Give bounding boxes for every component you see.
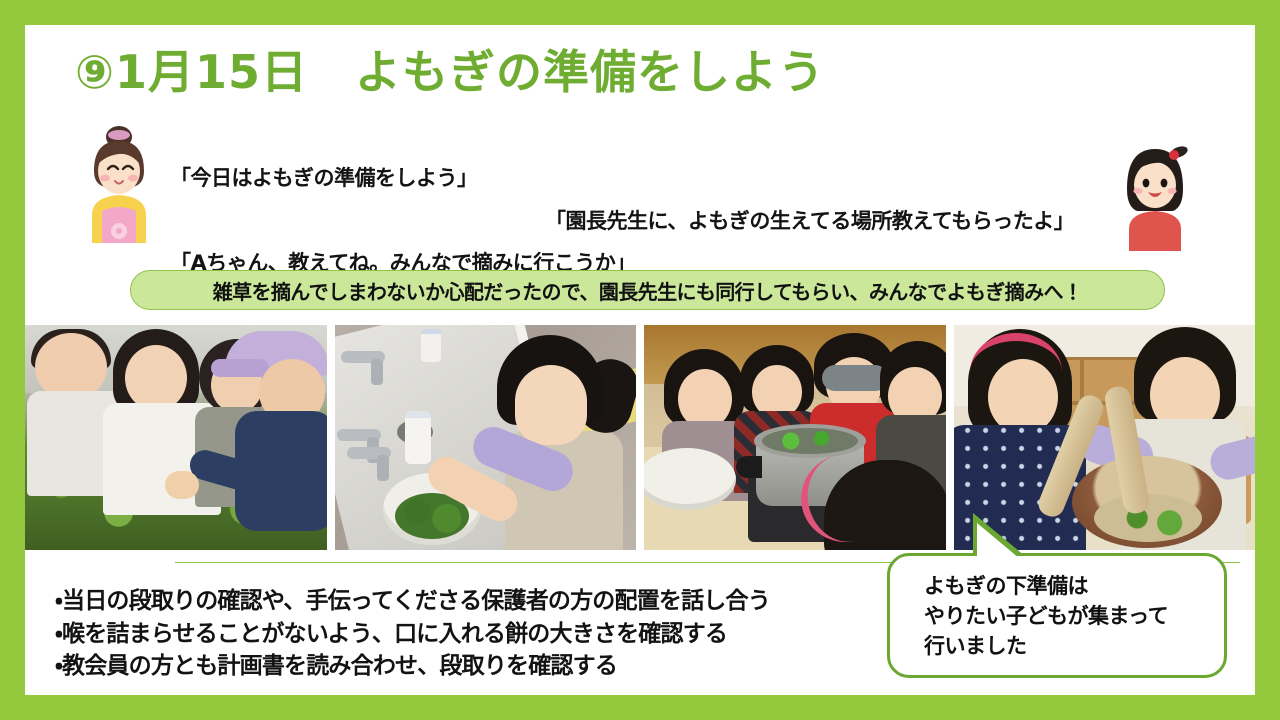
highlight-text: 雑草を摘んでしまわないか心配だったので、園長先生にも同行してもらい、みんなでよも… <box>213 276 1083 305</box>
bullet-item: ・喉を詰まらせることがないよう、口に入れる餅の大きさを確認する <box>55 618 875 651</box>
photo-strip <box>25 325 1255 550</box>
dialogue-line-2: 「園長先生に、よもぎの生えてる場所教えてもらったよ」 <box>545 205 1074 235</box>
bullet-item: ・教会員の方とも計画書を読み合わせ、段取りを確認する <box>55 650 875 683</box>
girl-illustration <box>1115 133 1195 251</box>
callout-tail-inner <box>977 523 1025 563</box>
photo2-child <box>477 335 627 550</box>
callout-text: よもぎの下準備は やりたい子どもが集まって 行いました <box>924 572 1168 661</box>
photo-picking-mugwort <box>25 325 327 550</box>
photo3-boiling-greens <box>762 428 858 454</box>
photo3-pot-handle <box>736 456 762 478</box>
photo2-faucet-1 <box>341 351 385 363</box>
slide: ⑨1月15日 よもぎの準備をしよう <box>0 0 1280 720</box>
photo2-faucet-2 <box>337 429 381 441</box>
bullet-list: ・当日の段取りの確認や、手伝ってくださる保護者の方の配置を話し合う ・喉を詰まら… <box>55 585 875 683</box>
slide-canvas: ⑨1月15日 よもぎの準備をしよう <box>25 25 1255 695</box>
highlight-box: 雑草を摘んでしまわないか心配だったので、園長先生にも同行してもらい、みんなでよも… <box>130 270 1165 310</box>
photo1-child-4 <box>225 325 327 525</box>
photo2-soap-bottle <box>421 329 441 362</box>
photo-boiling-mugwort <box>644 325 946 550</box>
photo2-faucet-3 <box>347 447 391 459</box>
photo2-soap-dispenser <box>405 411 431 464</box>
teacher-illustration <box>80 123 158 243</box>
callout-bubble: よもぎの下準備は やりたい子どもが集まって 行いました <box>887 553 1227 678</box>
page-title: ⑨1月15日 よもぎの準備をしよう <box>75 45 825 100</box>
photo-washing-mugwort <box>335 325 637 550</box>
dialogue-line-1: 「今日はよもぎの準備をしよう」 <box>170 162 478 192</box>
bullet-item: ・当日の段取りの確認や、手伝ってくださる保護者の方の配置を話し合う <box>55 585 875 618</box>
